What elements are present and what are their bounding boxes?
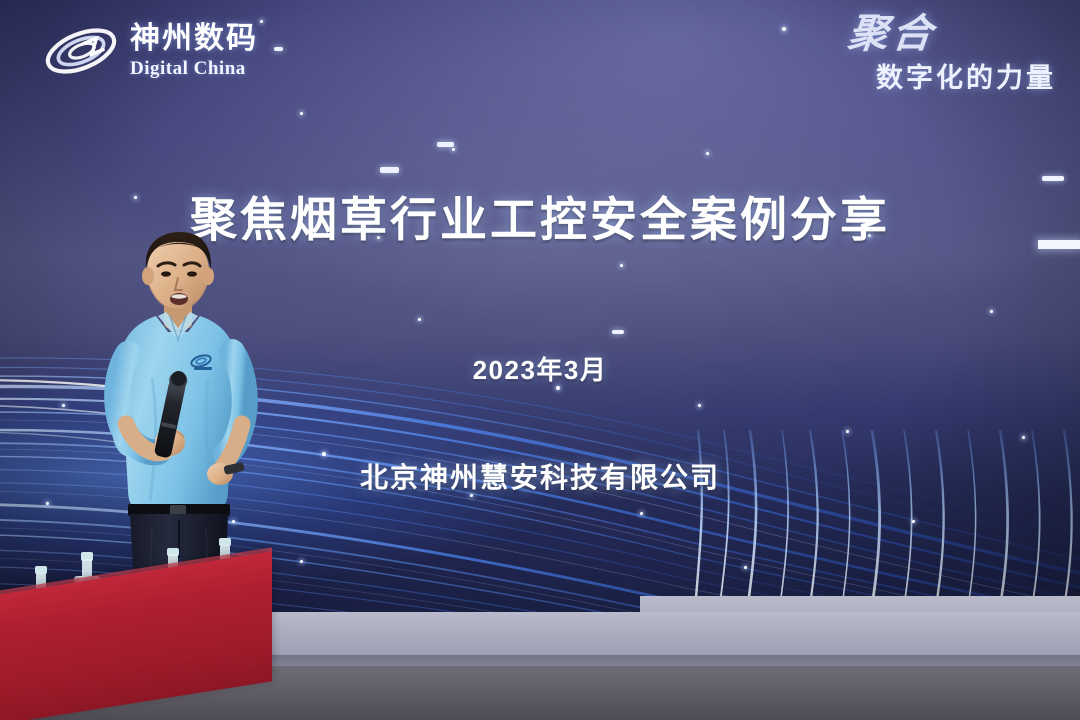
theme-tagline: 数字化的力量 (848, 56, 1056, 95)
brand-logo-left: 神州数码 Digital China (42, 22, 258, 80)
brand-wordmark: 神州数码 Digital China (130, 24, 258, 78)
conference-stage-screenshot: 神州数码 Digital China 聚合 数字化的力量 聚焦烟草行业工控安全案… (0, 0, 1080, 720)
brand-name-en: Digital China (130, 59, 258, 78)
theme-calligraphy: 聚合 (846, 14, 938, 54)
digital-china-swirl-logo (42, 22, 120, 80)
right-edge-accent-bar (1038, 240, 1080, 249)
brand-name-cn: 神州数码 (130, 24, 258, 54)
event-theme-logo: 聚合 数字化的力量 (848, 14, 1056, 95)
